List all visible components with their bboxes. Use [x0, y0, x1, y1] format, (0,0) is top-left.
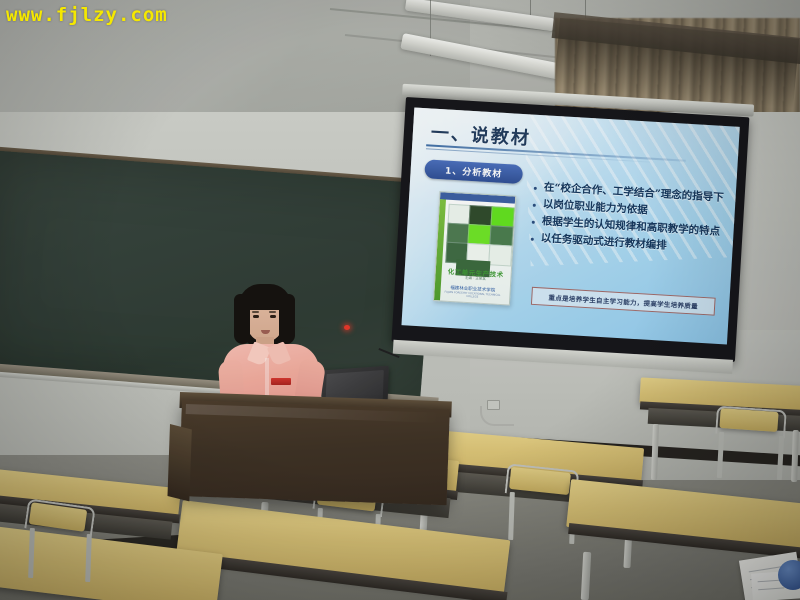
watermark-text: www.fjlzy.com: [6, 4, 168, 26]
textbook-cover-image: 化工单元生产技术 主编 · 王某某 福建林业职业技术学院 FUJIAN FORE…: [433, 191, 516, 305]
blue-cup: [778, 560, 800, 590]
eye-right: [270, 315, 276, 318]
eyebrow-right: [269, 311, 276, 313]
hair-side-left: [234, 294, 250, 344]
eyebrow-left: [252, 311, 259, 313]
wall-outlet: [487, 400, 500, 410]
red-indicator-dot: [344, 325, 350, 330]
book-tile: [489, 225, 513, 246]
eye-left: [253, 315, 259, 318]
classroom-photo: 一、说教材 1、分析教材: [0, 0, 800, 600]
book-tile: [448, 204, 471, 225]
book-tile: [467, 224, 491, 245]
paper-text-line: [758, 587, 784, 590]
book-tile: [446, 223, 469, 244]
book-photo-grid: [445, 204, 512, 266]
projection-screen: 一、说教材 1、分析教材: [391, 97, 749, 362]
slide-callout-box: 重点是培养学生自主学习能力，提高学生培养质量: [531, 287, 716, 316]
hair-side-right: [279, 294, 295, 344]
book-tile: [469, 205, 493, 226]
name-badge: [271, 378, 291, 385]
slide-bullet-list: 在“校企合作、工学结合”理念的指导下 以岗位职业能力为依据 根据学生的认知规律和…: [528, 181, 730, 260]
presentation-slide: 一、说教材 1、分析教材: [401, 108, 739, 345]
chair-frame: [715, 406, 787, 439]
book-tile: [490, 206, 514, 227]
podium-side-panel: [167, 424, 191, 501]
book-tile: [488, 244, 512, 266]
